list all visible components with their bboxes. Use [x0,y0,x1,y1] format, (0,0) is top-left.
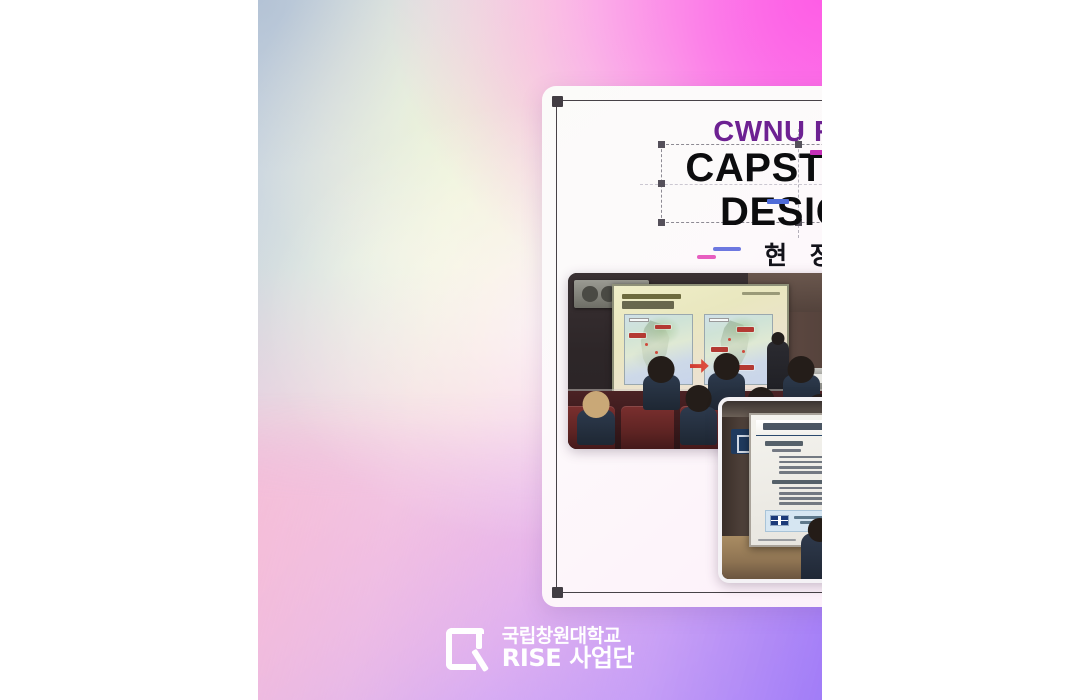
poster-title-line2: DESIGN [542,192,822,232]
corner-marker-top-left [552,96,563,107]
photo1-audience-1 [643,375,680,410]
footer-brand: 국립창원대학교 RISE 사업단 [258,627,822,671]
photo1-audience-5 [680,407,717,446]
resize-handle-top-left[interactable] [658,141,665,148]
accent-tick-blue [767,199,789,204]
photo1-projection-screen [612,284,789,397]
poster-subtitle: 현 장 [757,236,822,272]
uk-flag-icon [770,515,788,525]
footer-org-line2: RISE 사업단 [502,646,635,670]
hydrogen-policy-slide-photo[interactable] [718,397,822,583]
gradient-canvas: CWNU RISE CWNU RISE CAPSTONE CAPSTONE DE… [258,0,822,700]
poster-title: CAPSTONE CAPSTONE DESIGN [542,148,822,232]
cwnu-r-mark-icon [446,628,490,670]
poster-title-line1: CAPSTONE [685,146,822,190]
photo2-slide-header [756,420,822,436]
poster-subtitle-row: 현 장 [542,236,822,272]
poster-card: CWNU RISE CWNU RISE CAPSTONE CAPSTONE DE… [542,86,822,607]
corner-marker-bottom-left [552,587,563,598]
accent-tick-magenta [810,150,822,155]
photo2-scene [722,401,822,579]
poster-stage: CWNU RISE CWNU RISE CAPSTONE CAPSTONE DE… [0,0,1080,700]
dash-decoration-left [697,244,743,264]
photo2-audience-1 [801,533,822,579]
photo1-audience-4 [577,410,614,445]
photo1-slide-title-block [622,301,674,310]
footer-brand-text: 국립창원대학교 RISE 사업단 [502,627,635,671]
